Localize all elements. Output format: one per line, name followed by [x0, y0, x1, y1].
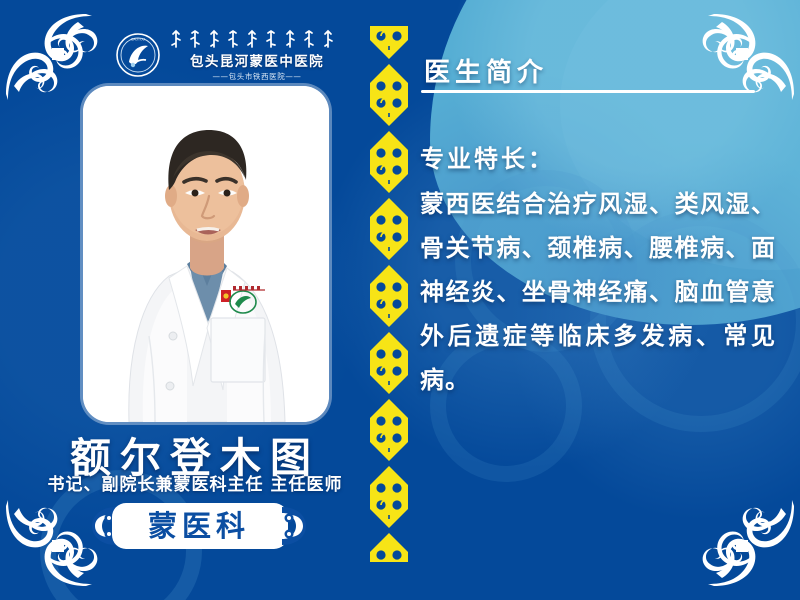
corner-ornament-top-right	[690, 14, 794, 102]
corner-ornament-top-left	[6, 14, 110, 102]
doctor-photo	[83, 86, 329, 422]
intro-heading: 医生简介	[424, 52, 548, 89]
badge-scroll-right-icon	[278, 505, 312, 547]
doctor-profile-poster: BAOTOU	[0, 0, 800, 600]
hospital-name: 包头昆河蒙医中医院	[190, 50, 324, 70]
intro-heading-rule	[421, 90, 755, 93]
svg-text:BAOTOU: BAOTOU	[131, 38, 145, 42]
department-name: 蒙医科	[148, 503, 250, 549]
hospital-subtitle: ——包头市铁西医院——	[212, 71, 301, 82]
specialty-body: 蒙西医结合治疗风湿、类风湿、骨关节病、颈椎病、腰椎病、面神经炎、坐骨神经痛、脑血…	[420, 182, 776, 402]
mongolian-script-logo	[169, 29, 345, 49]
specialty-label: 专业特长：	[420, 139, 555, 174]
doctor-title: 书记、副院长兼蒙医科主任 主任医师	[0, 470, 390, 495]
corner-ornament-bottom-right	[690, 498, 794, 586]
department-badge: 蒙医科	[86, 503, 312, 549]
hospital-logo: BAOTOU	[115, 28, 315, 82]
hospital-emblem-icon: BAOTOU	[115, 32, 161, 78]
